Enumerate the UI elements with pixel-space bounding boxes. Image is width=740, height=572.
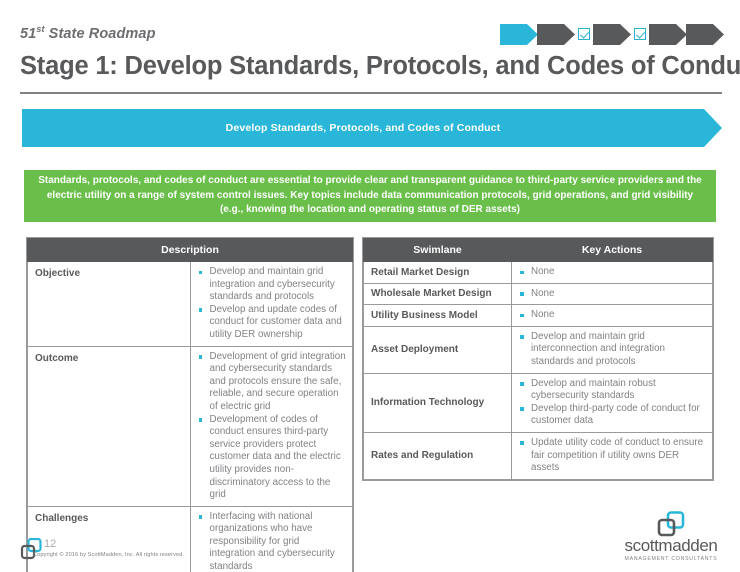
list-item: Interfacing with national organizations … (197, 511, 347, 572)
chevron-right-icon[interactable] (537, 24, 575, 45)
slide-root: 51st State Roadmap Stage 1: Develop Stan… (0, 0, 740, 572)
row-content: Update utility code of conduct to ensure… (512, 432, 713, 479)
list-item: None (518, 266, 706, 279)
eyebrow-prefix: 51 (20, 26, 36, 42)
table-header-row: Description (28, 239, 353, 262)
bullet-list: None (518, 288, 706, 301)
bullet-list: Development of grid integration and cybe… (197, 351, 347, 502)
chevron-right-icon[interactable] (500, 24, 538, 45)
bullet-list: Interfacing with national organizations … (197, 511, 347, 572)
table-row: Wholesale Market DesignNone (364, 283, 713, 305)
row-label: Information Technology (364, 373, 512, 432)
row-content: None (512, 283, 713, 305)
chevron-right-icon[interactable] (649, 24, 687, 45)
title-divider (20, 92, 722, 94)
list-item: Develop and maintain grid interconnectio… (518, 331, 706, 369)
row-content: None (512, 262, 713, 284)
brand-wordmark: scottmadden (616, 537, 726, 555)
chevron-right-icon[interactable] (593, 24, 631, 45)
list-item: Develop third-party code of conduct for … (518, 403, 706, 428)
checkbox-checked-icon[interactable] (578, 28, 590, 40)
table-row: Utility Business ModelNone (364, 305, 713, 327)
row-content: Develop and maintain robust cybersecurit… (512, 373, 713, 432)
table-row: Rates and RegulationUpdate utility code … (364, 432, 713, 479)
row-label: Retail Market Design (364, 262, 512, 284)
row-content: Develop and maintain grid integration an… (190, 262, 353, 347)
row-content: Interfacing with national organizations … (190, 506, 353, 572)
list-item: Development of codes of conduct ensures … (197, 414, 347, 502)
list-item: Development of grid integration and cybe… (197, 351, 347, 414)
list-item: Update utility code of conduct to ensure… (518, 437, 706, 475)
row-content: Develop and maintain grid interconnectio… (512, 326, 713, 373)
table-header-row: Swimlane Key Actions (364, 239, 713, 262)
checkbox-checked-icon[interactable] (634, 28, 646, 40)
bullet-list: None (518, 266, 706, 279)
row-content: None (512, 305, 713, 327)
row-label: Rates and Regulation (364, 432, 512, 479)
eyebrow-superscript: st (36, 24, 44, 34)
bullet-list: Develop and maintain robust cybersecurit… (518, 378, 706, 428)
row-label: Wholesale Market Design (364, 283, 512, 305)
table-row: Asset DeploymentDevelop and maintain gri… (364, 326, 713, 373)
swimlane-header: Swimlane (364, 239, 512, 262)
row-label: Asset Deployment (364, 326, 512, 373)
list-item: None (518, 288, 706, 301)
key-message-box: Standards, protocols, and codes of condu… (24, 170, 716, 222)
eyebrow-label: 51st State Roadmap (20, 24, 156, 42)
list-item: Develop and update codes of conduct for … (197, 304, 347, 342)
page-number: 12 (44, 538, 56, 550)
bullet-list: None (518, 309, 706, 322)
brand-logo: scottmadden MANAGEMENT CONSULTANTS (616, 511, 726, 561)
key-actions-header: Key Actions (512, 239, 713, 262)
table-row: Information TechnologyDevelop and mainta… (364, 373, 713, 432)
eyebrow-suffix: State Roadmap (45, 26, 156, 42)
row-label: Outcome (28, 346, 191, 506)
description-header: Description (28, 239, 353, 262)
swimlane-table: Swimlane Key Actions Retail Market Desig… (362, 237, 714, 481)
stage-banner-label: Develop Standards, Protocols, and Codes … (226, 122, 519, 134)
scottmadden-squares-logo (656, 511, 686, 537)
stage-banner: Develop Standards, Protocols, and Codes … (22, 109, 722, 147)
bullet-list: Develop and maintain grid integration an… (197, 266, 347, 342)
list-item: Develop and maintain robust cybersecurit… (518, 378, 706, 403)
description-table: Description ObjectiveDevelop and maintai… (26, 237, 354, 572)
table-row: Retail Market DesignNone (364, 262, 713, 284)
list-item: Develop and maintain grid integration an… (197, 266, 347, 304)
bullet-list: Update utility code of conduct to ensure… (518, 437, 706, 475)
chevron-right-icon[interactable] (686, 24, 724, 45)
copyright-text: Copyright © 2016 by ScottMadden, Inc. Al… (33, 552, 184, 558)
row-content: Development of grid integration and cybe… (190, 346, 353, 506)
key-message-text: Standards, protocols, and codes of condu… (34, 174, 706, 218)
page-title: Stage 1: Develop Standards, Protocols, a… (20, 52, 720, 81)
brand-tagline: MANAGEMENT CONSULTANTS (616, 556, 726, 562)
bullet-list: Develop and maintain grid interconnectio… (518, 331, 706, 369)
stage-progress-nav[interactable] (500, 23, 724, 45)
table-row: ChallengesInterfacing with national orga… (28, 506, 353, 572)
table-row: ObjectiveDevelop and maintain grid integ… (28, 262, 353, 347)
list-item: None (518, 309, 706, 322)
row-label: Utility Business Model (364, 305, 512, 327)
table-row: OutcomeDevelopment of grid integration a… (28, 346, 353, 506)
row-label: Objective (28, 262, 191, 347)
